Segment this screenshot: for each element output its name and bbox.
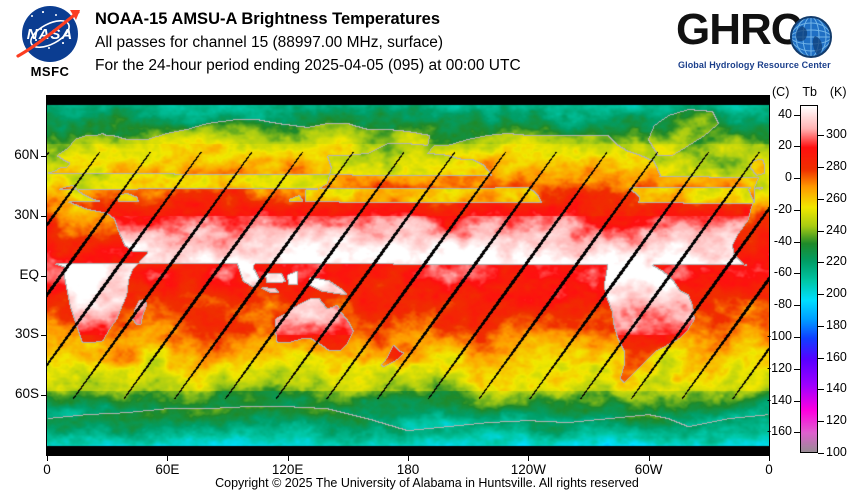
colorbar-label-kelvin: 220: [826, 254, 847, 268]
nasa-center-label: MSFC: [14, 64, 86, 79]
x-axis-label: 60W: [635, 462, 663, 477]
colorbar-label-celsius: -40: [748, 234, 792, 248]
y-tick-mark: [41, 216, 47, 217]
x-tick-mark: [167, 455, 168, 461]
colorbar-tick-kelvin: [818, 231, 824, 232]
colorbar: [800, 105, 818, 453]
y-axis-label: 60S: [0, 386, 39, 401]
globe-icon: [788, 14, 834, 60]
colorbar-tick-celsius: [794, 401, 800, 402]
colorbar-tick-celsius: [794, 369, 800, 370]
y-tick-mark: [41, 335, 47, 336]
colorbar-tick-celsius: [794, 337, 800, 338]
colorbar-tick-celsius: [794, 305, 800, 306]
y-tick-mark: [41, 156, 47, 157]
y-axis-label: EQ: [0, 267, 39, 282]
colorbar-tick-kelvin: [818, 421, 824, 422]
colorbar-label-kelvin: 240: [826, 223, 847, 237]
colorbar-label-celsius: -160: [748, 424, 792, 438]
colorbar-label-celsius: -60: [748, 265, 792, 279]
colorbar-label-kelvin: 180: [826, 318, 847, 332]
colorbar-label-kelvin: 160: [826, 350, 847, 364]
colorbar-label-kelvin: 100: [826, 445, 847, 459]
ghrc-logo: GHRC Global Hydrology Resource Center: [676, 8, 842, 78]
x-tick-mark: [47, 455, 48, 461]
colorbar-label-celsius: -20: [748, 202, 792, 216]
ghrc-subtitle: Global Hydrology Resource Center: [678, 60, 831, 70]
colorbar-unit-celsius: (C): [772, 85, 789, 99]
colorbar-tick-kelvin: [818, 135, 824, 136]
nasa-swoosh-icon: [14, 6, 86, 62]
x-axis-label: 0: [765, 462, 773, 477]
colorbar-label-celsius: -120: [748, 361, 792, 375]
page-subtitle: All passes for channel 15 (88997.00 MHz,…: [95, 31, 521, 54]
y-tick-mark: [41, 276, 47, 277]
ghrc-wordmark: GHRC: [676, 8, 802, 52]
x-axis-label: 180: [397, 462, 420, 477]
x-tick-mark: [408, 455, 409, 461]
colorbar-label-celsius: -140: [748, 393, 792, 407]
nasa-logo: NASA MSFC: [14, 6, 86, 82]
colorbar-gradient: [800, 105, 818, 453]
x-tick-mark: [769, 455, 770, 461]
colorbar-tick-kelvin: [818, 453, 824, 454]
colorbar-label-kelvin: 120: [826, 413, 847, 427]
colorbar-tick-celsius: [794, 210, 800, 211]
x-tick-mark: [288, 455, 289, 461]
y-axis-label: 60N: [0, 147, 39, 162]
colorbar-tick-celsius: [794, 146, 800, 147]
colorbar-tick-kelvin: [818, 262, 824, 263]
colorbar-label-celsius: 0: [748, 170, 792, 184]
colorbar-tick-kelvin: [818, 326, 824, 327]
colorbar-tick-kelvin: [818, 167, 824, 168]
colorbar-header: (C) Tb (K): [772, 85, 854, 99]
y-tick-mark: [41, 395, 47, 396]
colorbar-label-kelvin: 300: [826, 127, 847, 141]
colorbar-tick-celsius: [794, 242, 800, 243]
colorbar-tick-kelvin: [818, 199, 824, 200]
brightness-temperature-map: [47, 96, 769, 455]
colorbar-variable: Tb: [802, 85, 817, 99]
colorbar-tick-celsius: [794, 115, 800, 116]
colorbar-label-celsius: 40: [748, 107, 792, 121]
copyright-notice: Copyright © 2025 The University of Alaba…: [0, 476, 854, 490]
colorbar-tick-celsius: [794, 178, 800, 179]
x-axis-label: 120W: [511, 462, 546, 477]
colorbar-label-celsius: -80: [748, 297, 792, 311]
colorbar-tick-kelvin: [818, 294, 824, 295]
colorbar-tick-kelvin: [818, 358, 824, 359]
title-block: NOAA-15 AMSU-A Brightness Temperatures A…: [95, 8, 521, 77]
colorbar-label-celsius: 20: [748, 138, 792, 152]
map-canvas: [47, 96, 769, 455]
colorbar-tick-celsius: [794, 273, 800, 274]
x-axis-label: 0: [43, 462, 51, 477]
y-axis-label: 30S: [0, 326, 39, 341]
page-title: NOAA-15 AMSU-A Brightness Temperatures: [95, 8, 521, 31]
x-tick-mark: [528, 455, 529, 461]
y-axis-label: 30N: [0, 207, 39, 222]
x-tick-mark: [649, 455, 650, 461]
colorbar-label-celsius: -100: [748, 329, 792, 343]
colorbar-label-kelvin: 260: [826, 191, 847, 205]
x-axis-label: 60E: [155, 462, 179, 477]
colorbar-label-kelvin: 140: [826, 381, 847, 395]
page-period: For the 24-hour period ending 2025-04-05…: [95, 54, 521, 77]
colorbar-label-kelvin: 200: [826, 286, 847, 300]
colorbar-unit-kelvin: (K): [830, 85, 847, 99]
x-axis-label: 120E: [272, 462, 304, 477]
colorbar-tick-kelvin: [818, 389, 824, 390]
colorbar-tick-celsius: [794, 432, 800, 433]
colorbar-label-kelvin: 280: [826, 159, 847, 173]
